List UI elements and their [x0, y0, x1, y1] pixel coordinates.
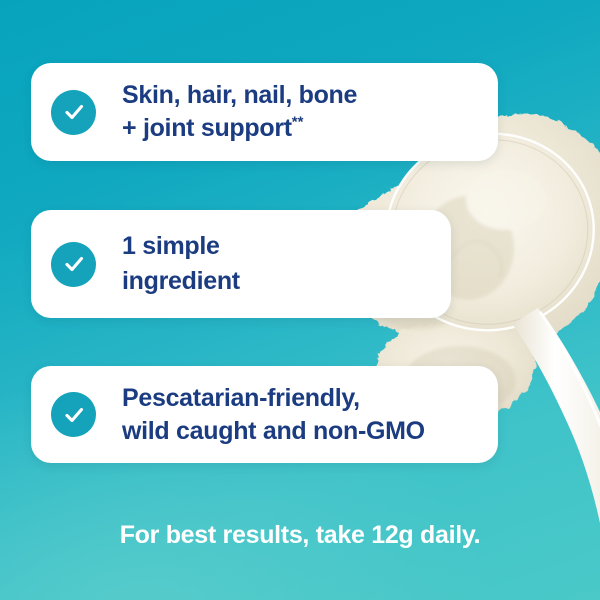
- benefit-card-1: Skin, hair, nail, bone+ joint support**: [31, 63, 498, 161]
- benefit-line-1: Pescatarian-friendly,: [122, 384, 360, 412]
- benefit-superscript: **: [292, 114, 304, 131]
- dosage-note: For best results, take 12g daily.: [0, 521, 600, 550]
- benefit-line-2: wild caught and non-GMO: [122, 417, 425, 445]
- benefit-text-1: Skin, hair, nail, bone+ joint support**: [122, 79, 357, 145]
- benefit-line-1: 1 simple: [122, 232, 220, 260]
- benefit-line-2: ingredient: [122, 267, 240, 295]
- benefit-card-2: 1 simpleingredient: [31, 210, 451, 318]
- promo-graphic: Skin, hair, nail, bone+ joint support** …: [0, 0, 600, 600]
- check-icon: [51, 90, 96, 135]
- benefit-text-3: Pescatarian-friendly,wild caught and non…: [122, 382, 425, 448]
- benefit-text-2: 1 simpleingredient: [122, 229, 240, 300]
- benefit-card-3: Pescatarian-friendly,wild caught and non…: [31, 366, 498, 463]
- check-icon: [51, 242, 96, 287]
- benefit-line-2: + joint support: [122, 114, 292, 142]
- benefit-line-1: Skin, hair, nail, bone: [122, 81, 357, 109]
- check-icon: [51, 392, 96, 437]
